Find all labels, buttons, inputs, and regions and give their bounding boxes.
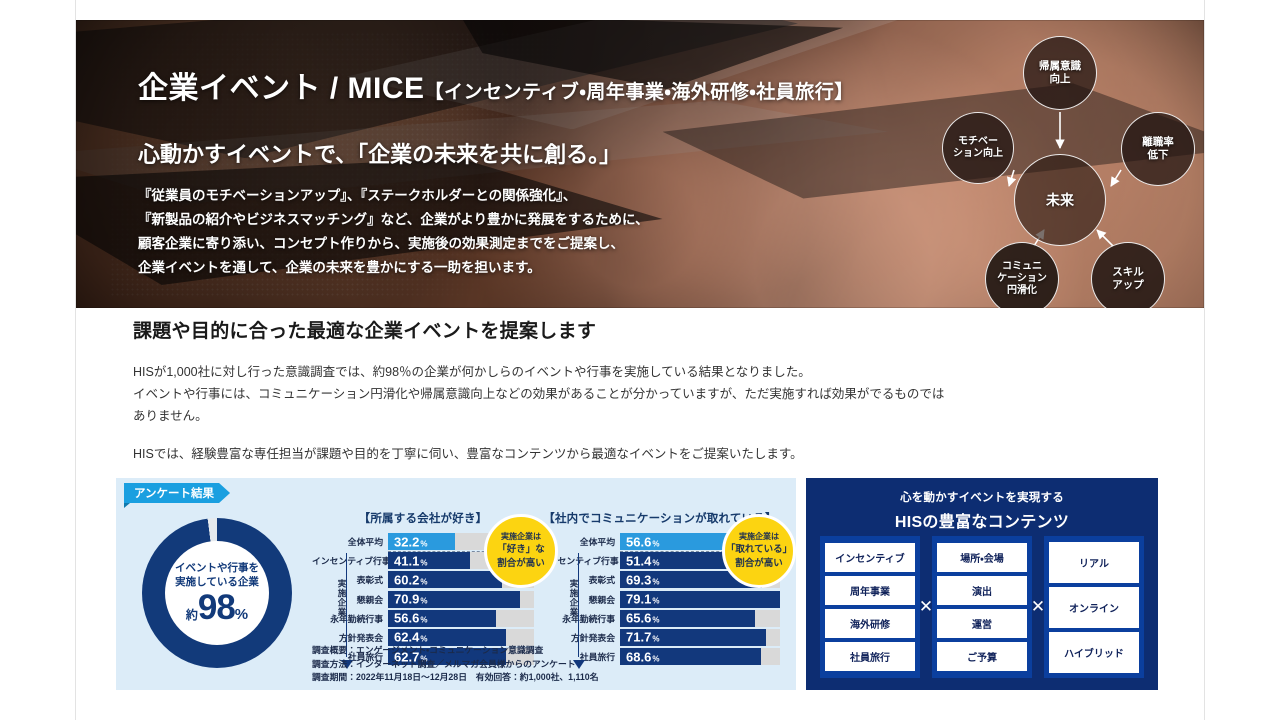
content-box-service-4[interactable]: ご予算 [937,642,1027,671]
bar-fill: 32.2% [388,533,455,550]
multiply-icon: ✕ [920,536,932,678]
future-effects-diagram: 帰属意識向上 モチベーション向上 離職率低下 未来 コミュニケーション円滑化 ス… [931,20,1204,308]
bar-value-label: 60.2% [394,572,427,587]
badge-line-1: 実施企業は [739,531,779,543]
contents-column-service: 場所・会場演出運営ご予算 [932,536,1032,678]
hero-body-line: 『新製品の紹介やビジネスマッチング』など、企業がより豊かに発展をするために、 [138,208,649,232]
hero-subtitle: 心動かすイベントで、「企業の未来を共に創る。」 [138,137,621,169]
bar-value-label: 70.9% [394,592,427,607]
hero-title-main: 企業イベント / MICE [138,72,425,105]
bar-track: 56.6% [388,610,534,627]
content-box-service-1[interactable]: 場所・会場 [937,543,1027,572]
bar-row-label: 全体平均 [312,535,388,548]
bar-track: 70.9% [388,591,534,608]
bar-fill: 41.1% [388,552,470,569]
callout-badge-liking: 実施企業は 「好き」な 割合が高い [484,514,558,588]
bar-value-label: 41.1% [394,553,427,568]
section-paragraph-line: イベントや行事には、コミュニケーション円滑化や帰属意識向上などの効果があることが… [133,383,1158,405]
donut-chart: イベントや行事を 実施している企業 約 98 % [142,518,292,668]
bar-fill: 68.6% [620,648,761,665]
bar-value-label: 56.6% [626,534,659,549]
diagram-node-future: 未来 [1014,154,1106,246]
bar-value-label: 79.1% [626,592,659,607]
badge-line-3: 割合が高い [735,557,783,571]
bar-value-label: 71.7% [626,630,659,645]
diagram-node-communication: コミュニケーション円滑化 [985,242,1059,308]
content-box-event-3[interactable]: 海外研修 [825,609,915,638]
axis-label: 実施企業 [336,579,348,617]
donut-center-label: イベントや行事を 実施している企業 約 98 % [165,541,269,645]
section-paragraph-line: ありません。 [133,405,1158,427]
badge-line-3: 割合が高い [497,557,545,571]
page-root: 企業イベント / MICE【インセンティブ・周年事業・海外研修・社員旅行】 心動… [0,0,1280,720]
callout-badge-communication: 実施企業は 「取れている」 割合が高い [722,514,796,588]
donut-value: 約 98 % [186,590,248,625]
bar-track: 71.7% [620,629,780,646]
diagram-node-turnover: 離職率低下 [1121,112,1195,186]
bar-fill: 51.4% [620,552,729,569]
diagram-node-belonging: 帰属意識向上 [1023,36,1097,110]
bar-fill: 60.2% [388,571,502,588]
bar-fill: 65.6% [620,610,755,627]
section-paragraph-1: HISが1,000社に対し行った意識調査では、約98％の企業が何かしらのイベント… [133,361,1158,427]
contents-panel: 心を動かすイベントを実現する HISの豊富なコンテンツ インセンティブ周年事業海… [806,478,1158,690]
survey-note-line: 調査概要：エンゲージメント・コミュニケーション意識調査 [312,644,599,658]
section-heading: 課題や目的に合った最適な企業イベントを提案します [133,316,1158,343]
contents-column-event-type: インセンティブ周年事業海外研修社員旅行 [820,536,920,678]
survey-ribbon-tail [124,503,130,508]
donut-value-number: 98 [198,590,235,625]
hero-body-line: 顧客企業に寄り添い、コンセプト作りから、実施後の効果測定までをご提案し、 [138,232,649,256]
bar-value-label: 32.2% [394,534,427,549]
hero-body-line: 『従業員のモチベーションアップ』、『ステークホルダーとの関係強化』、 [138,184,649,208]
bar-fill: 56.6% [620,533,738,550]
hero-title-sub: 【インセンティブ・周年事業・海外研修・社員旅行】 [425,82,854,103]
badge-line-2: 「好き」な [497,543,545,557]
bar-fill: 71.7% [620,629,766,646]
survey-note-line: 調査方法：インターネット調査／メルマガ会員様からのアンケート [312,658,599,672]
hero-title: 企業イベント / MICE【インセンティブ・周年事業・海外研修・社員旅行】 [138,63,854,107]
bar-value-label: 51.4% [626,553,659,568]
contents-panel-subtitle: 心を動かすイベントを実現する [806,478,1158,505]
survey-notes: 調査概要：エンゲージメント・コミュニケーション意識調査 調査方法：インターネット… [312,644,599,685]
content-box-format-3[interactable]: ハイブリッド [1049,632,1139,673]
badge-line-1: 実施企業は [501,531,541,543]
content-box-event-1[interactable]: インセンティブ [825,543,915,572]
hero-body: 『従業員のモチベーションアップ』、『ステークホルダーとの関係強化』、 『新製品の… [138,184,649,280]
bar-value-label: 56.6% [394,611,427,626]
donut-value-prefix: 約 [186,606,198,623]
multiply-icon: ✕ [1032,536,1044,678]
donut-caption-line-1: イベントや行事を [175,561,259,575]
badge-line-2: 「取れている」 [726,543,792,557]
section-paragraph-2: HISでは、経験豊富な専任担当が課題や目的を丁寧に伺い、豊富なコンテンツから最適… [133,443,1158,465]
contents-column-format: リアルオンラインハイブリッド [1044,536,1144,678]
content-box-service-2[interactable]: 演出 [937,576,1027,605]
diagram-node-skillup: スキルアップ [1091,242,1165,308]
contents-panel-title: HISの豊富なコンテンツ [806,508,1158,532]
section-paragraph-line: HISが1,000社に対し行った意識調査では、約98％の企業が何かしらのイベント… [133,361,1158,383]
axis-label: 実施企業 [568,579,580,617]
survey-panel: アンケート結果 イベントや行事を 実施している企業 約 98 % 【所属する会社… [116,478,796,690]
bar-value-label: 68.6% [626,649,659,664]
hero-banner: 企業イベント / MICE【インセンティブ・周年事業・海外研修・社員旅行】 心動… [76,20,1204,308]
bar-track: 65.6% [620,610,780,627]
survey-note-line: 調査期間：2022年11月18日〜12月28日 有効回答：約1,000社、1,1… [312,671,599,685]
bar-value-label: 69.3% [626,572,659,587]
bar-value-label: 62.4% [394,630,427,645]
bar-fill: 79.1% [620,591,780,608]
bar-value-label: 65.6% [626,611,659,626]
donut-value-unit: % [235,606,248,623]
bar-fill: 56.6% [388,610,496,627]
content-box-service-3[interactable]: 運営 [937,609,1027,638]
content-box-event-2[interactable]: 周年事業 [825,576,915,605]
section-intro: 課題や目的に合った最適な企業イベントを提案します HISが1,000社に対し行っ… [133,316,1158,465]
content-box-format-1[interactable]: リアル [1049,542,1139,583]
bar-track: 68.6% [620,648,780,665]
diagram-node-motivation: モチベーション向上 [942,112,1014,184]
content-box-format-2[interactable]: オンライン [1049,587,1139,628]
content-frame: 企業イベント / MICE【インセンティブ・周年事業・海外研修・社員旅行】 心動… [75,0,1205,720]
bar-fill: 70.9% [388,591,520,608]
contents-columns: インセンティブ周年事業海外研修社員旅行 ✕ 場所・会場演出運営ご予算 ✕ リアル… [820,536,1144,678]
survey-ribbon-label: アンケート結果 [124,483,230,503]
bar-track: 79.1% [620,591,780,608]
content-box-event-4[interactable]: 社員旅行 [825,642,915,671]
hero-body-line: 企業イベントを通して、企業の未来を豊かにする一助を担います。 [138,256,649,280]
donut-caption-line-2: 実施している企業 [175,575,259,589]
